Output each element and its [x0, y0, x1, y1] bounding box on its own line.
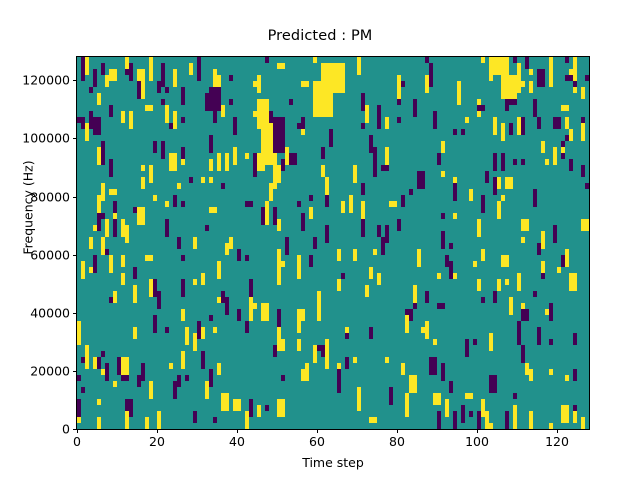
heatmap-plot-area[interactable] — [76, 56, 590, 430]
y-tick-label: 100000 — [2, 131, 70, 146]
x-tick-mark — [77, 429, 78, 433]
y-tick-mark — [73, 429, 77, 430]
x-tick-label: 120 — [527, 434, 587, 449]
y-tick-label: 60000 — [2, 247, 70, 262]
x-tick-label: 80 — [367, 434, 427, 449]
x-tick-label: 0 — [47, 434, 107, 449]
x-tick-label: 60 — [287, 434, 347, 449]
figure-canvas: Predicted : PM 0200004000060000800001000… — [0, 0, 640, 480]
y-axis-label: Frequency (Hz) — [21, 128, 36, 288]
chart-title: Predicted : PM — [0, 28, 640, 44]
y-tick-label: 40000 — [2, 305, 70, 320]
x-tick-label: 20 — [127, 434, 187, 449]
x-tick-mark — [477, 429, 478, 433]
y-tick-label: 20000 — [2, 363, 70, 378]
y-tick-label: 80000 — [2, 189, 70, 204]
x-tick-label: 100 — [447, 434, 507, 449]
x-tick-mark — [237, 429, 238, 433]
heatmap-image — [77, 57, 589, 429]
x-tick-mark — [397, 429, 398, 433]
y-tick-mark — [73, 197, 77, 198]
y-tick-mark — [73, 255, 77, 256]
x-tick-label: 40 — [207, 434, 267, 449]
x-axis-label: Time step — [77, 455, 589, 470]
y-tick-mark — [73, 313, 77, 314]
x-tick-mark — [157, 429, 158, 433]
y-tick-mark — [73, 80, 77, 81]
x-tick-mark — [557, 429, 558, 433]
y-tick-label: 120000 — [2, 73, 70, 88]
y-tick-mark — [73, 371, 77, 372]
x-tick-mark — [317, 429, 318, 433]
y-tick-mark — [73, 138, 77, 139]
